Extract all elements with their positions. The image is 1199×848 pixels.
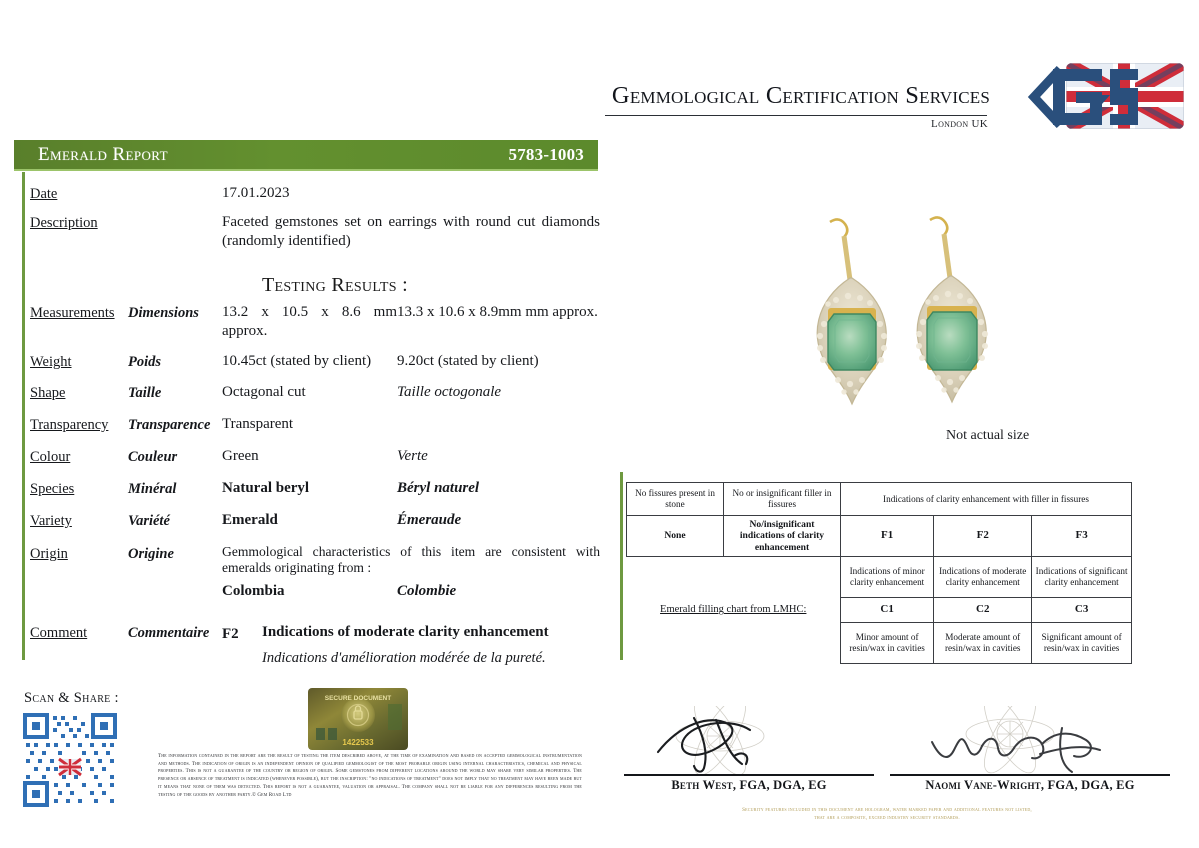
svg-text:SECURE DOCUMENT: SECURE DOCUMENT bbox=[325, 695, 391, 702]
cell-desc-c1: Minor amount of resin/wax in cavities bbox=[841, 622, 934, 663]
value-comment-fr: Indications d'amélioration modérée de la… bbox=[262, 649, 600, 668]
label-origin-fr: Origine bbox=[128, 544, 222, 563]
label-shape-fr: Taille bbox=[128, 383, 222, 402]
value-variety-en: Emerald bbox=[222, 511, 397, 530]
report-title-band: Emerald Report 5783-1003 bbox=[14, 140, 598, 169]
label-colour: Colour bbox=[30, 447, 128, 466]
photo-caption: Not actual size bbox=[946, 428, 1029, 444]
label-comment: Comment bbox=[30, 623, 128, 642]
row-comment: Comment Commentaire F2 Indications of mo… bbox=[30, 623, 600, 667]
masthead-divider bbox=[605, 115, 987, 116]
row-date: Date 17.01.2023 bbox=[30, 184, 600, 203]
scan-share-label: Scan & Share : bbox=[24, 690, 119, 707]
value-shape-fr: Taille octogonale bbox=[397, 383, 600, 402]
gemstone-photo bbox=[786, 214, 1016, 429]
company-location: London UK bbox=[610, 118, 990, 130]
chart-header-row: No fissures present in stone No or insig… bbox=[627, 483, 1132, 516]
signatory-name-left: Beth West, FGA, DGA, EG bbox=[624, 778, 874, 793]
report-body: Date 17.01.2023 Description Faceted gems… bbox=[30, 176, 600, 667]
label-description-fr bbox=[128, 213, 222, 215]
cell-grade-f1: F1 bbox=[841, 516, 934, 557]
cell-desc-c3: Significant amount of resin/wax in cavit… bbox=[1032, 622, 1132, 663]
row-colour: Colour Couleur Green Verte bbox=[30, 447, 600, 466]
cell-no-insignificant: No/insignificant indications of clarity … bbox=[724, 516, 841, 557]
value-shape-en: Octagonal cut bbox=[222, 383, 397, 402]
label-description: Description bbox=[30, 213, 128, 232]
filling-chart-table: No fissures present in stone No or insig… bbox=[626, 482, 1132, 664]
band-underline bbox=[14, 169, 598, 171]
value-date: 17.01.2023 bbox=[222, 184, 600, 203]
header-no-fissures: No fissures present in stone bbox=[627, 483, 724, 516]
cell-desc-f3: Indications of significant clarity enhan… bbox=[1032, 556, 1132, 597]
secure-document-hologram-icon: SECURE DOCUMENT 1422533 bbox=[308, 688, 408, 750]
signature-naomi-vane-wright bbox=[890, 706, 1170, 774]
value-species-en: Natural beryl bbox=[222, 479, 397, 498]
report-number: 5783-1003 bbox=[509, 145, 584, 165]
label-comment-fr: Commentaire bbox=[128, 623, 222, 642]
value-origin-intro: Gemmological characteristics of this ite… bbox=[222, 544, 600, 576]
row-measurements: Measurements Dimensions 13.2 x 10.5 x 8.… bbox=[30, 303, 600, 340]
signature-line-left bbox=[624, 774, 874, 776]
cell-desc-c2: Moderate amount of resin/wax in cavities bbox=[934, 622, 1032, 663]
label-date-fr bbox=[128, 184, 222, 186]
value-weight-stone2: 9.20ct (stated by client) bbox=[397, 352, 600, 371]
svg-text:1422533: 1422533 bbox=[342, 738, 374, 747]
label-weight: Weight bbox=[30, 352, 128, 371]
chart-caption-lmhc: Emerald filling chart from LMHC: bbox=[627, 556, 841, 663]
cell-grade-c3: C3 bbox=[1032, 597, 1132, 622]
label-measurements: Measurements bbox=[30, 303, 128, 322]
value-weight-stone1: 10.45ct (stated by client) bbox=[222, 352, 397, 371]
certificate-page: Gemmological Certification Services Lond… bbox=[0, 0, 1199, 848]
right-green-rule bbox=[620, 472, 623, 660]
cell-grade-c1: C1 bbox=[841, 597, 934, 622]
value-measurements-stone2: 13.3 x 10.6 x 8.9mm mm approx. bbox=[397, 303, 600, 340]
label-transparency: Transparency bbox=[30, 415, 128, 434]
row-shape: Shape Taille Octagonal cut Taille octogo… bbox=[30, 383, 600, 402]
signature-block-left: Beth West, FGA, DGA, EG bbox=[624, 706, 874, 793]
cell-grade-c2: C2 bbox=[934, 597, 1032, 622]
label-origin: Origin bbox=[30, 544, 128, 563]
label-weight-fr: Poids bbox=[128, 352, 222, 371]
cell-desc-f2: Indications of moderate clarity enhancem… bbox=[934, 556, 1032, 597]
chart-f-description-row: Emerald filling chart from LMHC: Indicat… bbox=[627, 556, 1132, 597]
value-measurements-stone1: 13.2 x 10.5 x 8.6 mm approx. bbox=[222, 303, 397, 340]
signature-block-right: Naomi Vane-Wright, FGA, DGA, EG bbox=[890, 706, 1170, 793]
value-origin-en: Colombia bbox=[222, 582, 397, 601]
cell-desc-f1: Indications of minor clarity enhancement bbox=[841, 556, 934, 597]
value-species-fr: Béryl naturel bbox=[397, 479, 600, 498]
cell-grade-f2: F2 bbox=[934, 516, 1032, 557]
label-species-fr: Minéral bbox=[128, 479, 222, 498]
row-origin: Origin Origine Gemmological characterist… bbox=[30, 544, 600, 601]
value-comment-grade: F2 bbox=[222, 623, 262, 644]
label-variety: Variety bbox=[30, 511, 128, 530]
signature-line-right bbox=[890, 774, 1170, 776]
label-shape: Shape bbox=[30, 383, 128, 402]
gcs-union-jack-logo-icon bbox=[998, 55, 1188, 139]
value-comment-en: Indications of moderate clarity enhancem… bbox=[262, 623, 600, 643]
qr-code-icon[interactable] bbox=[22, 712, 118, 808]
label-variety-fr: Variété bbox=[128, 511, 222, 530]
cell-none: None bbox=[627, 516, 724, 557]
value-colour-en: Green bbox=[222, 447, 397, 466]
value-description: Faceted gemstones set on earrings with r… bbox=[222, 213, 600, 250]
chart-grade-row: None No/insignificant indications of cla… bbox=[627, 516, 1132, 557]
header-insignificant-filler: No or insignificant filler in fissures bbox=[724, 483, 841, 516]
report-type-title: Emerald Report bbox=[38, 144, 168, 166]
cell-grade-f3: F3 bbox=[1032, 516, 1132, 557]
label-transparency-fr: Transparence bbox=[128, 415, 222, 434]
value-origin-fr: Colombie bbox=[397, 582, 600, 601]
row-species: Species Minéral Natural beryl Béryl natu… bbox=[30, 479, 600, 498]
row-transparency: Transparency Transparence Transparent bbox=[30, 415, 600, 434]
signature-beth-west bbox=[624, 706, 874, 774]
label-colour-fr: Couleur bbox=[128, 447, 222, 466]
label-measurements-fr: Dimensions bbox=[128, 303, 222, 322]
row-description: Description Faceted gemstones set on ear… bbox=[30, 213, 600, 250]
label-date: Date bbox=[30, 184, 128, 203]
value-transparency-en: Transparent bbox=[222, 415, 397, 434]
masthead: Gemmological Certification Services Lond… bbox=[610, 62, 1190, 147]
emerald-filling-chart: No fissures present in stone No or insig… bbox=[626, 482, 1132, 664]
header-clarity-enhancement: Indications of clarity enhancement with … bbox=[841, 483, 1132, 516]
company-name: Gemmological Certification Services bbox=[610, 82, 990, 110]
security-features-note: Security features included in this docum… bbox=[742, 806, 1032, 823]
label-species: Species bbox=[30, 479, 128, 498]
signatory-name-right: Naomi Vane-Wright, FGA, DGA, EG bbox=[890, 778, 1170, 793]
value-colour-fr: Verte bbox=[397, 447, 600, 466]
legal-disclaimer: The information contained in the report … bbox=[158, 753, 582, 799]
value-variety-fr: Émeraude bbox=[397, 511, 600, 530]
testing-results-heading: Testing Results : bbox=[30, 274, 600, 297]
row-variety: Variety Variété Emerald Émeraude bbox=[30, 511, 600, 530]
left-green-rule bbox=[22, 172, 25, 660]
row-weight: Weight Poids 10.45ct (stated by client) … bbox=[30, 352, 600, 371]
value-transparency-fr bbox=[397, 415, 600, 434]
